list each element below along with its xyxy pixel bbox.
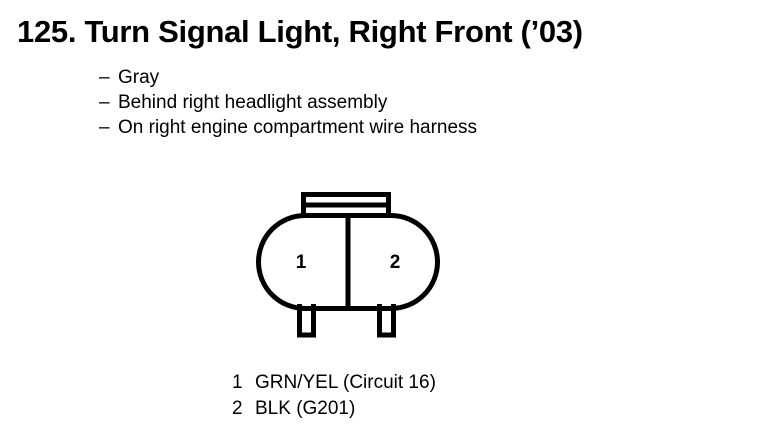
list-item: – Gray [99,65,477,90]
legend-pin-label: GRN/YEL (Circuit 16) [255,370,436,396]
cavity-number-1: 1 [296,252,307,273]
list-item-label: Gray [118,65,159,90]
legend-pin-label: BLK (G201) [255,396,355,422]
legend-row: 1 GRN/YEL (Circuit 16) [232,370,436,396]
list-item-label: On right engine compartment wire harness [118,115,477,140]
list-item: – Behind right headlight assembly [99,90,477,115]
cavity-number-2: 2 [390,252,401,273]
list-item-label: Behind right headlight assembly [118,90,387,115]
legend-pin-number: 1 [232,370,255,396]
legend-pin-number: 2 [232,396,255,422]
pin-legend: 1 GRN/YEL (Circuit 16) 2 BLK (G201) [232,370,436,422]
connector-diagram: 1 2 [250,186,446,338]
dash-bullet-icon: – [99,90,118,115]
dash-bullet-icon: – [99,65,118,90]
dash-bullet-icon: – [99,115,118,140]
connector-detail-list: – Gray – Behind right headlight assembly… [99,65,477,140]
list-item: – On right engine compartment wire harne… [99,115,477,140]
connector-top-latch-icon [304,195,389,216]
page-title: 125. Turn Signal Light, Right Front (’03… [17,14,583,50]
legend-row: 2 BLK (G201) [232,396,436,422]
